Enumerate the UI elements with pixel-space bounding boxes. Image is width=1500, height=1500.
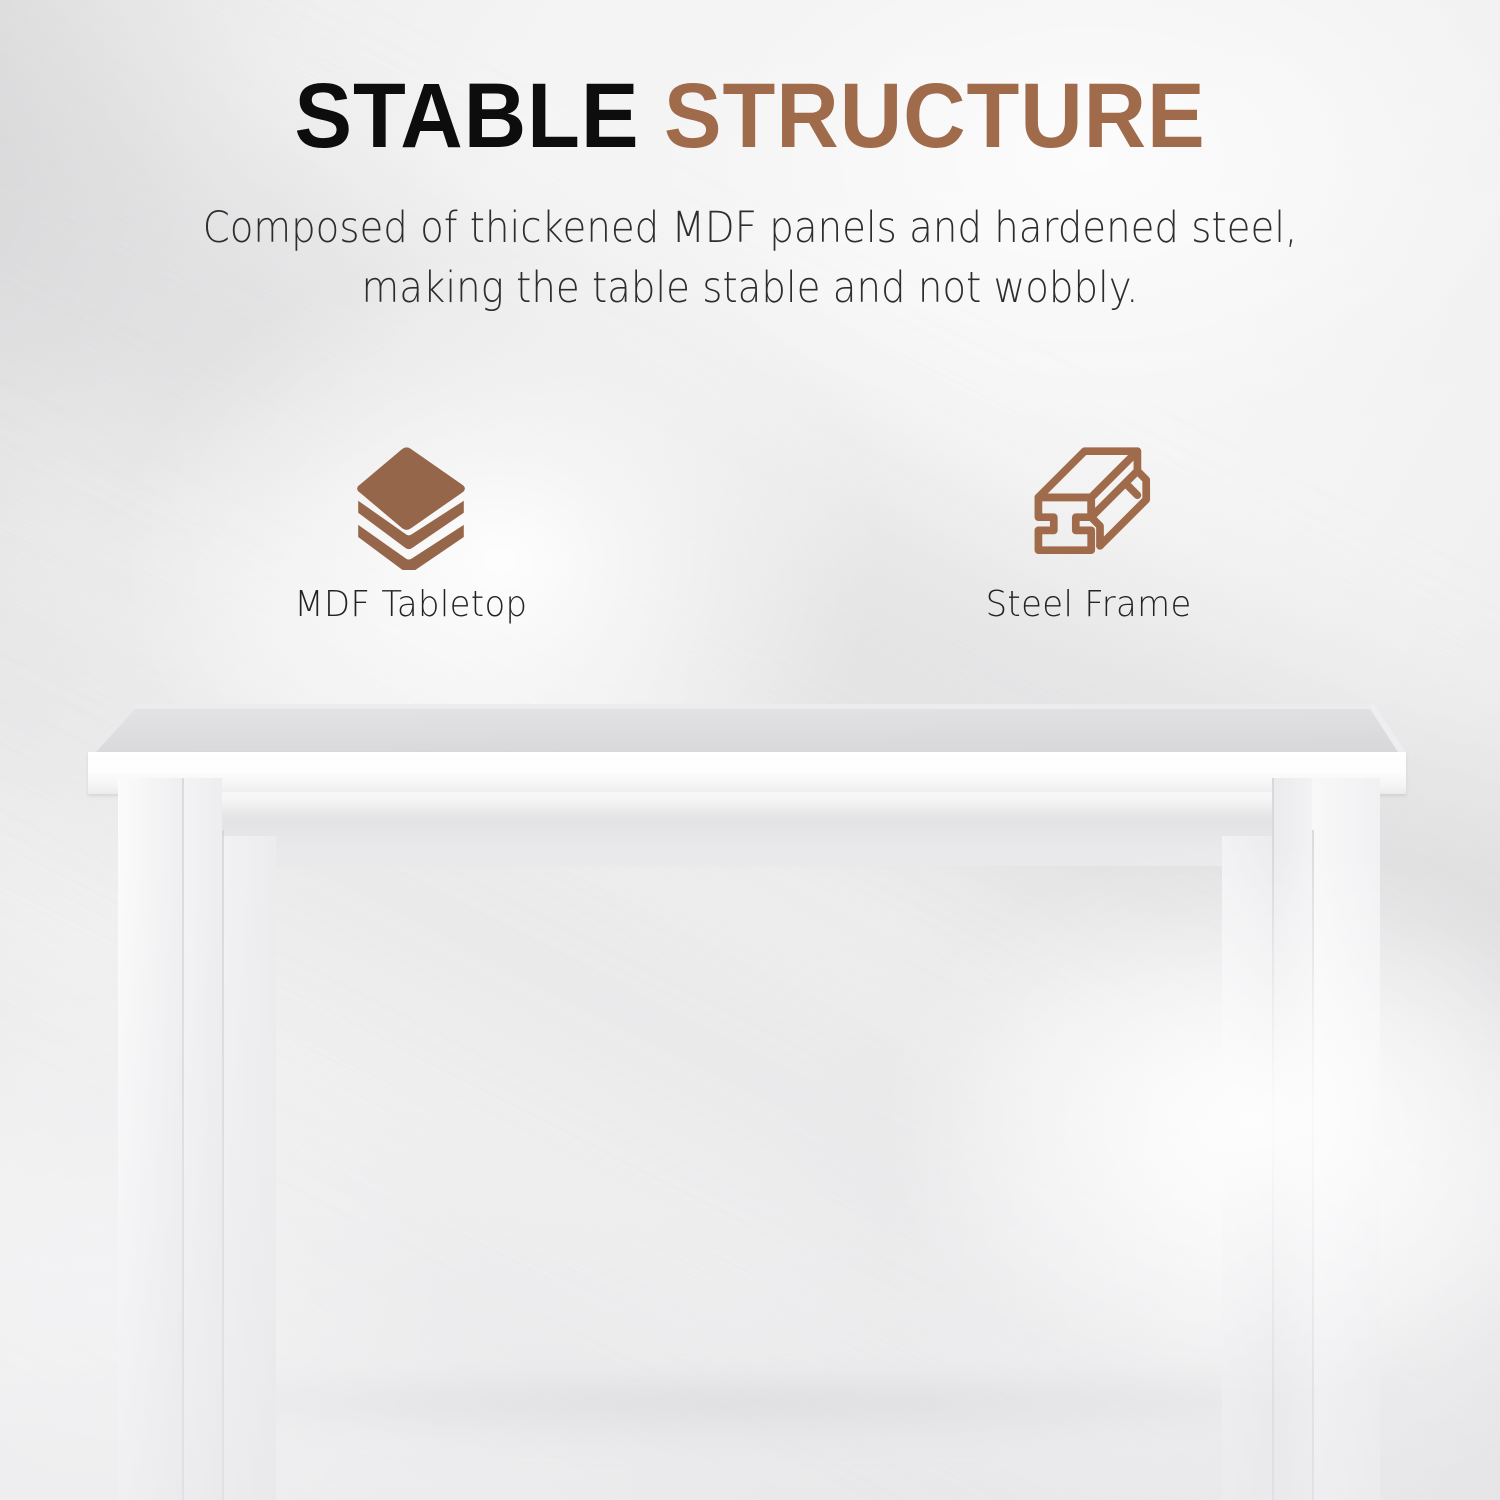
page-title: STABLESTRUCTURE: [45, 70, 1455, 162]
table-leg-front-left: [118, 778, 222, 1500]
seam-right-leg: [1312, 830, 1314, 1500]
table-leg-back-right: [1222, 836, 1274, 1500]
subtitle: Composed of thickened MDF panels and har…: [75, 198, 1425, 318]
subtitle-line-1: Composed of thickened MDF panels and har…: [75, 198, 1425, 258]
leg-side-face: [182, 778, 222, 1500]
i-beam-icon: [1023, 438, 1155, 570]
feature-mdf-tabletop: MDF Tabletop: [261, 438, 561, 625]
title-word-accent: STRUCTURE: [664, 65, 1206, 167]
feature-label-mdf: MDF Tabletop: [295, 584, 528, 625]
product-image-white-table: [0, 660, 1500, 1500]
table-leg-front-right: [1272, 778, 1380, 1500]
subtitle-line-2: making the table stable and not wobbly.: [75, 258, 1425, 318]
lower-light-pool: [880, 840, 1500, 1400]
tabletop-front-edge: [88, 752, 1406, 794]
marketing-banner: STABLESTRUCTURE Composed of thickened MD…: [0, 0, 1500, 1500]
layers-stack-icon: [345, 438, 477, 570]
apron-inner-shadow: [196, 810, 1308, 868]
seam-left-apron: [222, 830, 224, 1500]
leg-front-face: [118, 778, 182, 1500]
seam-right-apron: [1272, 778, 1274, 1500]
feature-steel-frame: Steel Frame: [939, 438, 1239, 625]
title-word-primary: STABLE: [294, 65, 639, 167]
table-leg-back-left: [222, 836, 276, 1500]
leg-front-face: [1312, 778, 1380, 1500]
seam-left-leg: [182, 778, 184, 1500]
leg-side-face: [1272, 778, 1312, 1500]
feature-list: MDF Tabletop Steel Frame: [0, 438, 1500, 625]
feature-label-steel: Steel Frame: [986, 584, 1192, 625]
